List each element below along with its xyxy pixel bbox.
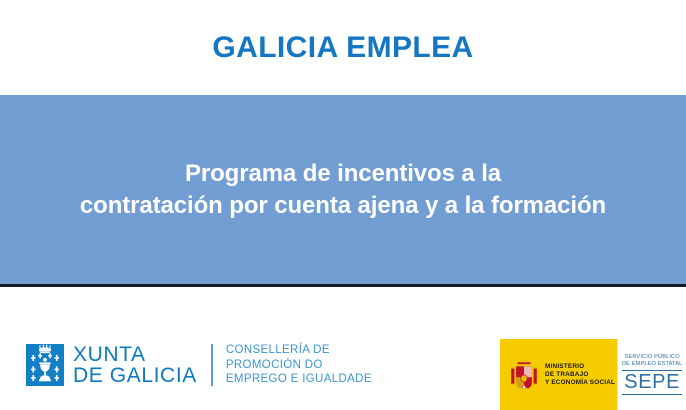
footer-logos: XUNTA DE GALICIA CONSELLERÍA DE PROMOCIÓ… [0, 287, 686, 410]
ministerio-line-2: DE TRABAJO [545, 371, 615, 379]
xunta-wordmark-line-2: DE GALICIA [73, 365, 197, 386]
sepe-subtitle-line-2: DE EMPLEO ESTATAL [622, 361, 682, 368]
ministerio-line-3: Y ECONOMÍA SOCIAL [545, 379, 615, 387]
logo-divider [211, 344, 213, 386]
banner-line-1: Programa de incentivos a la [185, 158, 501, 190]
sepe-logo: SERVICIO PÚBLICO DE EMPLEO ESTATAL SEPE [617, 339, 686, 410]
ministerio-line-1: MINISTERIO [545, 363, 615, 371]
xunta-wordmark-line-1: XUNTA [73, 344, 197, 365]
banner-line-2: contratación por cuenta ajena y a la for… [80, 190, 606, 222]
spain-coat-of-arms-icon [509, 357, 539, 393]
conselleria-line-1: CONSELLERÍA DE [226, 343, 372, 358]
conselleria-line-2: PROMOCIÓN DO [226, 358, 372, 373]
government-logos: MINISTERIO DE TRABAJO Y ECONOMÍA SOCIAL … [500, 339, 686, 410]
ministerio-logo: MINISTERIO DE TRABAJO Y ECONOMÍA SOCIAL [500, 339, 617, 410]
program-banner: Programa de incentivos a la contratación… [0, 95, 686, 284]
conselleria-line-3: EMPREGO E IGUALDADE [226, 372, 372, 387]
sepe-acronym: SEPE [622, 370, 682, 395]
xunta-coat-of-arms-icon [26, 344, 64, 386]
xunta-wordmark: XUNTA DE GALICIA [73, 344, 197, 387]
conselleria-wordmark: CONSELLERÍA DE PROMOCIÓN DO EMPREGO E IG… [226, 343, 372, 387]
sepe-subtitle: SERVICIO PÚBLICO DE EMPLEO ESTATAL [622, 354, 682, 368]
header-area: GALICIA EMPLEA [0, 0, 686, 95]
ministerio-text: MINISTERIO DE TRABAJO Y ECONOMÍA SOCIAL [545, 363, 615, 387]
page-title: GALICIA EMPLEA [212, 33, 473, 63]
xunta-de-galicia-logo: XUNTA DE GALICIA CONSELLERÍA DE PROMOCIÓ… [26, 343, 372, 387]
sepe-subtitle-line-1: SERVICIO PÚBLICO [625, 354, 680, 361]
